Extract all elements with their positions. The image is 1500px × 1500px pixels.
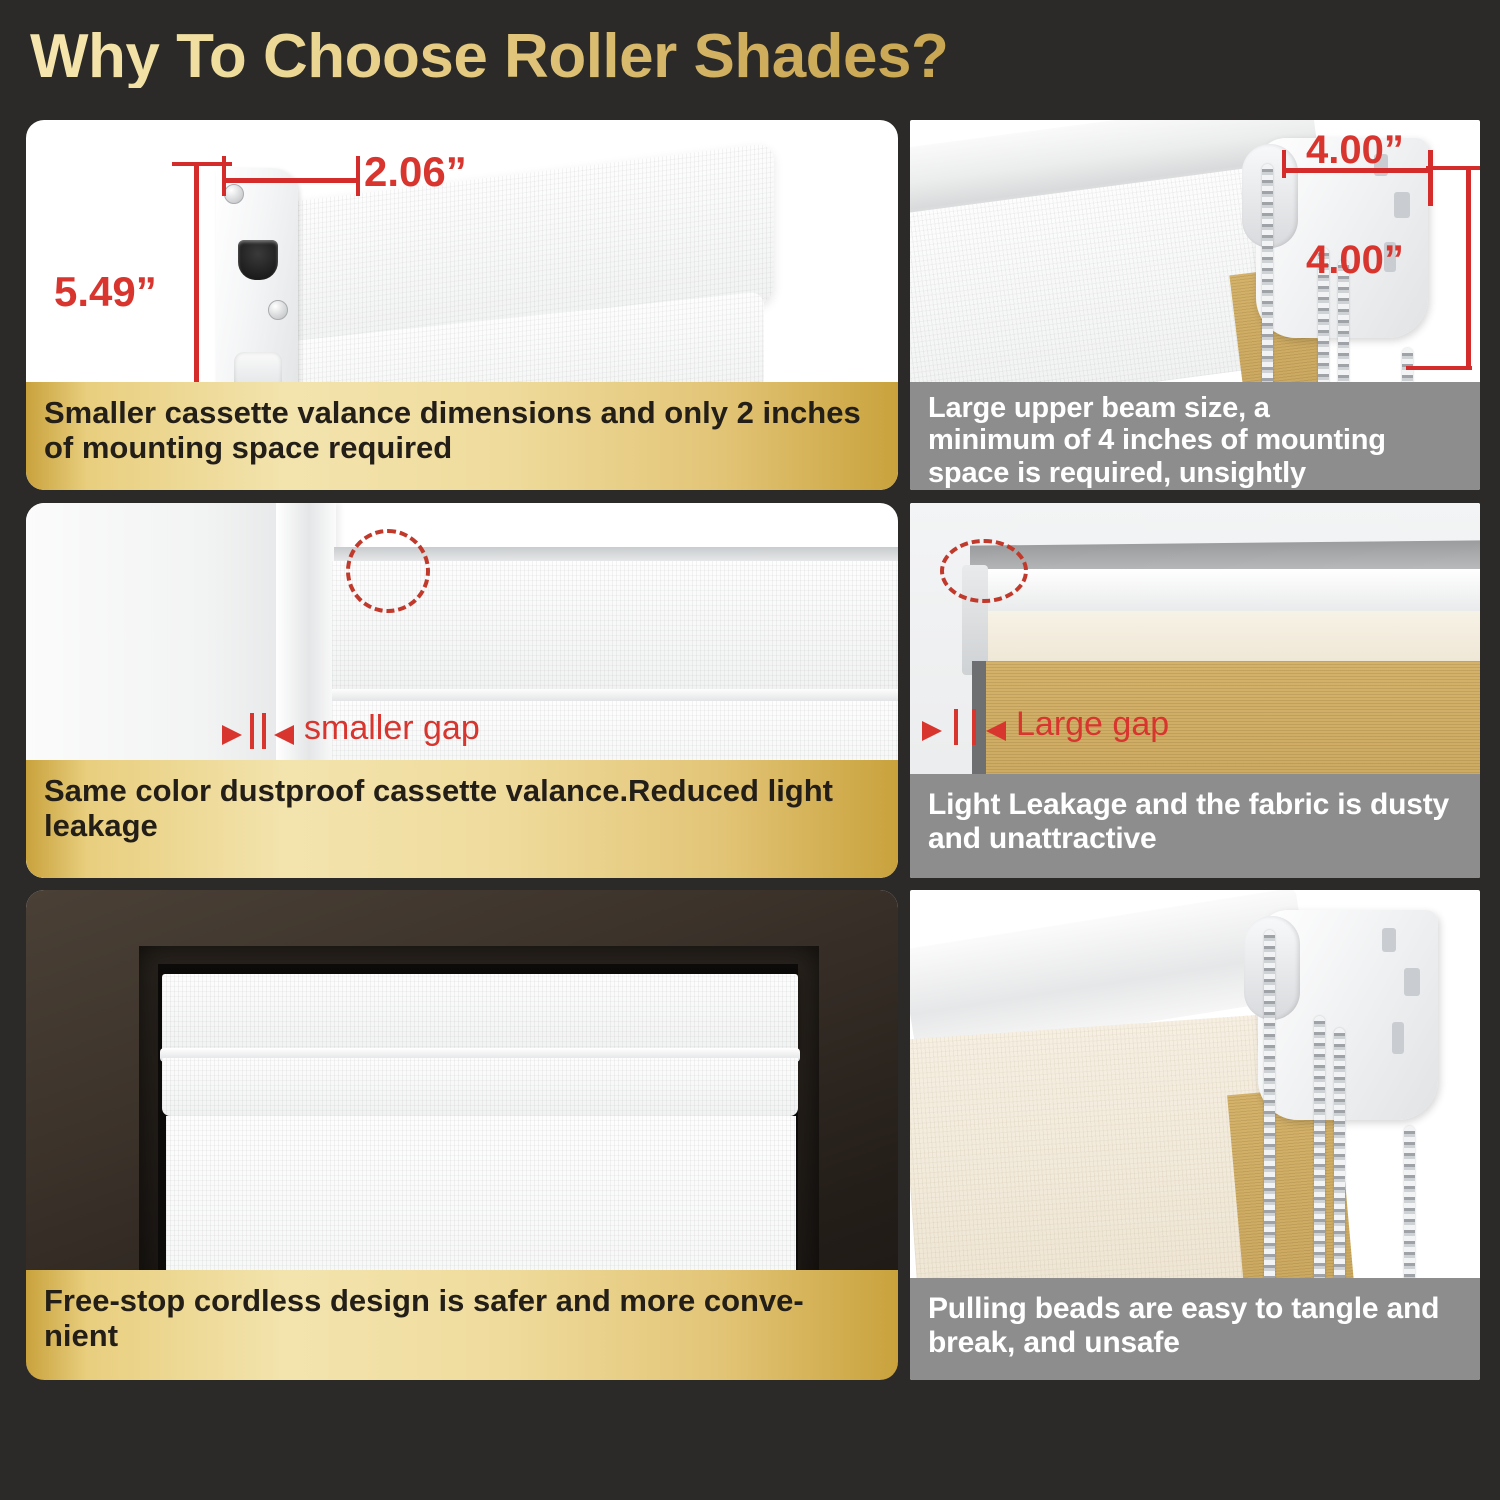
caption-bad-light-leakage: Light Leakage and the fabric is dusty an… xyxy=(910,774,1480,878)
dim-line-width xyxy=(222,178,360,183)
gap-bar-left xyxy=(250,713,254,749)
panel-good-valance-size: 2.06” 5.49” Smaller cassette valance dim… xyxy=(26,120,898,490)
panel-bad-beam-size: 4.00” 4.00” Large upper beam size, a min… xyxy=(910,120,1480,490)
beam-cream-band xyxy=(976,611,1480,663)
valance-slot xyxy=(238,240,278,280)
dimension-label-beam-width: 4.00” xyxy=(1306,128,1404,173)
comparison-grid: 2.06” 5.49” Smaller cassette valance dim… xyxy=(0,0,1500,1500)
gap-arrow-right-icon xyxy=(922,721,942,741)
caption-bad-bead-chain: Pulling beads are easy to tangle and bre… xyxy=(910,1278,1480,1380)
screw-bottom-icon xyxy=(268,300,288,320)
gap-callout-label: Large gap xyxy=(1016,705,1169,744)
panel-bad-light-leakage: Large gap Light Leakage and the fabric i… xyxy=(910,503,1480,878)
mounting-bracket xyxy=(1258,910,1438,1120)
panel-good-cordless: Free-stop cordless design is safer and m… xyxy=(26,890,898,1380)
bracket-notch-top xyxy=(1382,928,1396,952)
valance-end-cap xyxy=(216,168,298,418)
highlight-circle-icon xyxy=(346,529,430,613)
screw-top-icon xyxy=(224,184,244,204)
gap-callout-label: smaller gap xyxy=(304,709,480,748)
gap-bar-right xyxy=(972,709,976,745)
dim-line-height-2 xyxy=(1466,166,1471,370)
panel-bad-bead-chain: Pulling beads are easy to tangle and bre… xyxy=(910,890,1480,1380)
gap-arrow-right-icon xyxy=(222,725,242,745)
dim-tick-right-2 xyxy=(1428,150,1433,206)
dim-tick-top xyxy=(172,162,232,166)
caption-bad-beam-size: Large upper beam size, a minimum of 4 in… xyxy=(910,382,1480,490)
upper-beam-white xyxy=(972,569,1480,615)
bracket-notch-mid xyxy=(1394,192,1410,218)
bracket-notch-mid xyxy=(1404,968,1420,996)
gap-bar-right xyxy=(262,713,266,749)
dim-tick-left-2 xyxy=(1282,150,1286,178)
dimension-label-beam-height: 4.00” xyxy=(1306,238,1404,283)
gap-arrow-left-icon xyxy=(986,721,1006,741)
gap-arrow-left-icon xyxy=(274,725,294,745)
dimension-label-width: 2.06” xyxy=(364,148,467,196)
caption-good-valance-size: Smaller cassette valance dimensions and … xyxy=(26,382,898,490)
highlight-circle-icon xyxy=(940,539,1028,603)
caption-good-light-leakage: Same color dustproof cassette valance.Re… xyxy=(26,760,898,878)
dim-tick-top-2 xyxy=(1426,166,1480,170)
dim-tick-right xyxy=(356,156,360,196)
cassette-valance xyxy=(162,974,798,1052)
valance-lower xyxy=(162,1058,798,1116)
panel-good-light-leakage: smaller gap Same color dustproof cassett… xyxy=(26,503,898,878)
dim-tick-bottom-2 xyxy=(1406,366,1472,370)
bracket-notch-low xyxy=(1392,1022,1404,1054)
gap-bar-left xyxy=(954,709,958,745)
dimension-label-height: 5.49” xyxy=(54,268,157,316)
caption-good-cordless: Free-stop cordless design is safer and m… xyxy=(26,1270,898,1380)
